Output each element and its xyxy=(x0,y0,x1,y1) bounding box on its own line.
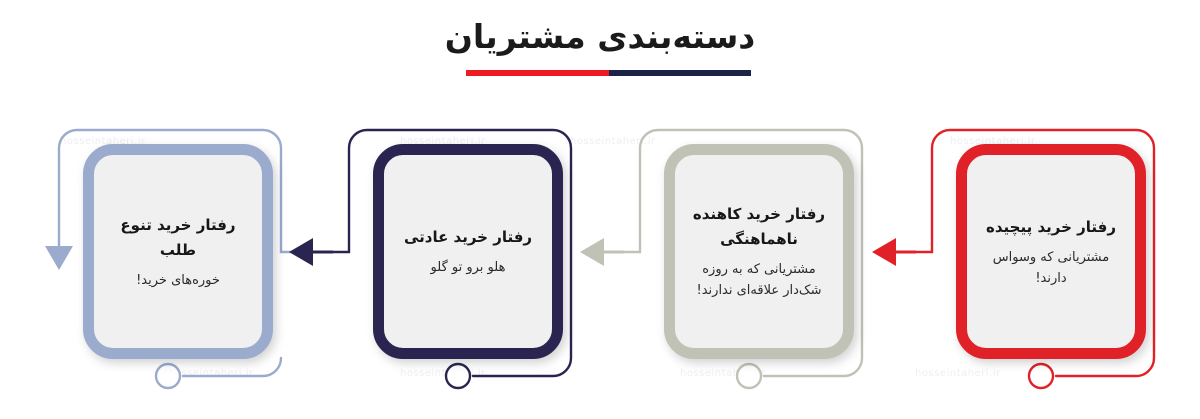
card-dissonance-reducing-title: رفتار خرید کاهنده ناهماهنگی xyxy=(687,202,831,252)
card-variety-seeking-content: رفتار خرید تنوع طلب خوره‌های خرید! xyxy=(106,213,250,291)
flow-card-dissonance-reducing[interactable]: رفتار خرید کاهنده ناهماهنگی مشتریانی که … xyxy=(636,128,884,398)
card-complex[interactable]: رفتار خرید پیچیده مشتریانی که وسواس دارن… xyxy=(956,144,1146,359)
card-complex-content: رفتار خرید پیچیده مشتریانی که وسواس دارن… xyxy=(979,215,1123,289)
flow-card-variety-seeking[interactable]: رفتار خرید تنوع طلب خوره‌های خرید! xyxy=(55,128,303,398)
card-dissonance-reducing-subtitle: مشتریانی که به روزه شک‌دار علاقه‌ای ندار… xyxy=(687,259,831,301)
card-dissonance-reducing-content: رفتار خرید کاهنده ناهماهنگی مشتریانی که … xyxy=(687,202,831,301)
card-habitual[interactable]: رفتار خرید عادتی هلو برو تو گلو xyxy=(373,144,563,359)
card-variety-seeking-title: رفتار خرید تنوع طلب xyxy=(106,213,250,263)
card-habitual-content: رفتار خرید عادتی هلو برو تو گلو xyxy=(396,225,540,278)
infographic-canvas: دسته‌بندی مشتریان hosseintaheri.ir hosse… xyxy=(0,0,1200,419)
flow-card-habitual[interactable]: رفتار خرید عادتی هلو برو تو گلو xyxy=(345,128,593,398)
title-underline-navy-segment xyxy=(609,70,752,76)
page-title: دسته‌بندی مشتریان xyxy=(0,16,1200,58)
card-variety-seeking-subtitle: خوره‌های خرید! xyxy=(106,270,250,291)
card-habitual-title: رفتار خرید عادتی xyxy=(396,225,540,250)
card-variety-seeking[interactable]: رفتار خرید تنوع طلب خوره‌های خرید! xyxy=(83,144,273,359)
title-underline-red-segment xyxy=(466,70,609,76)
title-underline xyxy=(466,70,751,76)
page-title-block: دسته‌بندی مشتریان xyxy=(0,16,1200,58)
card-habitual-subtitle: هلو برو تو گلو xyxy=(396,257,540,278)
card-complex-title: رفتار خرید پیچیده xyxy=(979,215,1123,240)
card-dissonance-reducing[interactable]: رفتار خرید کاهنده ناهماهنگی مشتریانی که … xyxy=(664,144,854,359)
card-complex-subtitle: مشتریانی که وسواس دارند! xyxy=(979,247,1123,289)
flow-card-complex[interactable]: رفتار خرید پیچیده مشتریانی که وسواس دارن… xyxy=(928,128,1176,398)
